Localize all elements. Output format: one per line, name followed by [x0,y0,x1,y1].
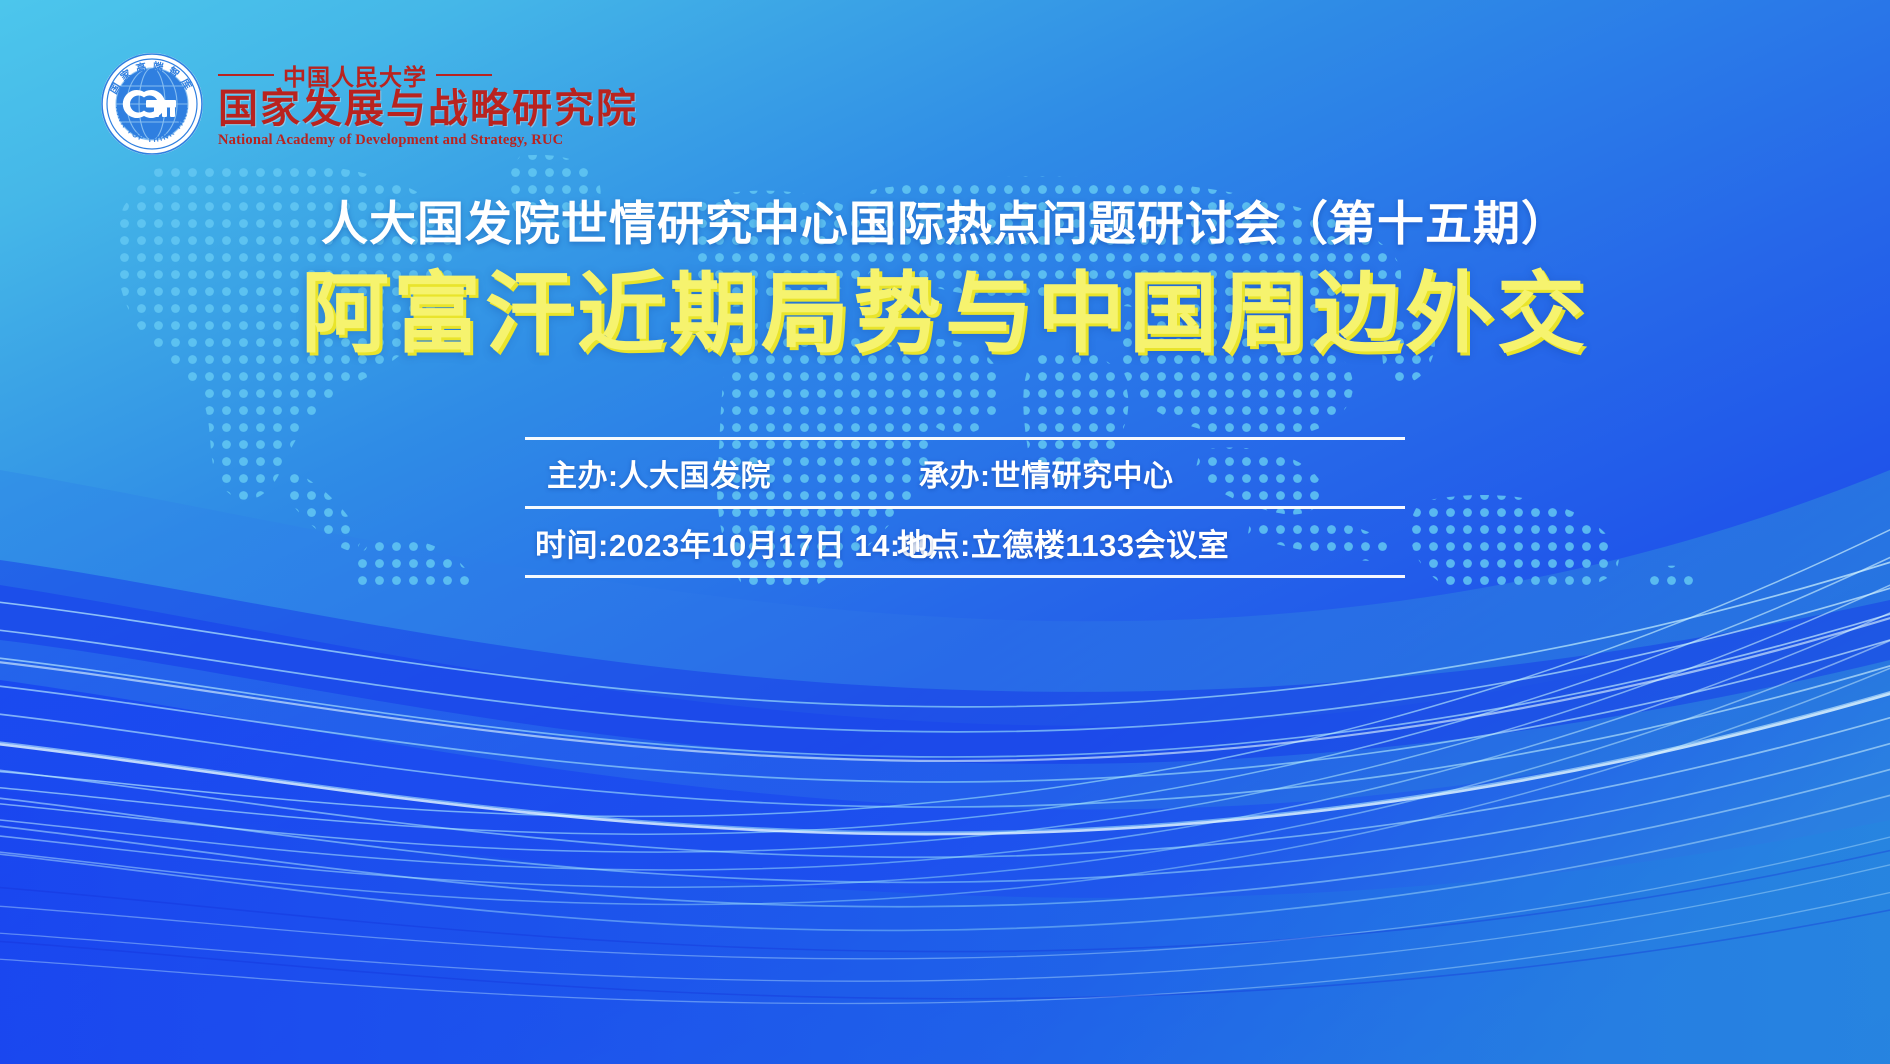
logo-rule-left [218,74,274,76]
info-divider-middle [525,506,1405,509]
logo-rule-right [436,74,492,76]
logo-institute-name: 国家发展与战略研究院 [218,87,638,132]
info-divider-top [525,437,1405,440]
info-row-organizers: 主办:人大国发院 承办:世情研究中心 [525,440,1405,506]
organizer-label: 主办:人大国发院 [547,451,919,495]
series-line: 人大国发院世情研究中心国际热点问题研讨会（第十五期） [0,196,1890,251]
logo-institute-name-en: National Academy of Development and Stra… [218,132,638,149]
event-time: 时间:2023年10月17日 14:00 [535,520,897,565]
institution-logo: 国家高端智库 CHINA TOP THINK TANKS 中国人民大学 国家发展… [100,50,638,158]
co-organizer-label: 承办:世情研究中心 [919,451,1405,495]
logo-text-block: 中国人民大学 国家发展与战略研究院 National Academy of De… [218,59,638,150]
info-divider-bottom [525,575,1405,578]
logo-university-line: 中国人民大学 [218,63,638,87]
event-info-block: 主办:人大国发院 承办:世情研究中心 时间:2023年10月17日 14:00 … [525,437,1405,578]
event-venue: 地点:立德楼1133会议室 [897,520,1405,565]
page-title: 阿富汗近期局势与中国周边外交 [0,263,1890,365]
event-poster: 国家高端智库 CHINA TOP THINK TANKS 中国人民大学 国家发展… [0,0,1890,1064]
headline-block: 人大国发院世情研究中心国际热点问题研讨会（第十五期） 阿富汗近期局势与中国周边外… [0,196,1890,366]
china-top-think-tanks-seal-icon: 国家高端智库 CHINA TOP THINK TANKS [100,52,204,156]
info-row-time-venue: 时间:2023年10月17日 14:00 地点:立德楼1133会议室 [525,509,1405,575]
